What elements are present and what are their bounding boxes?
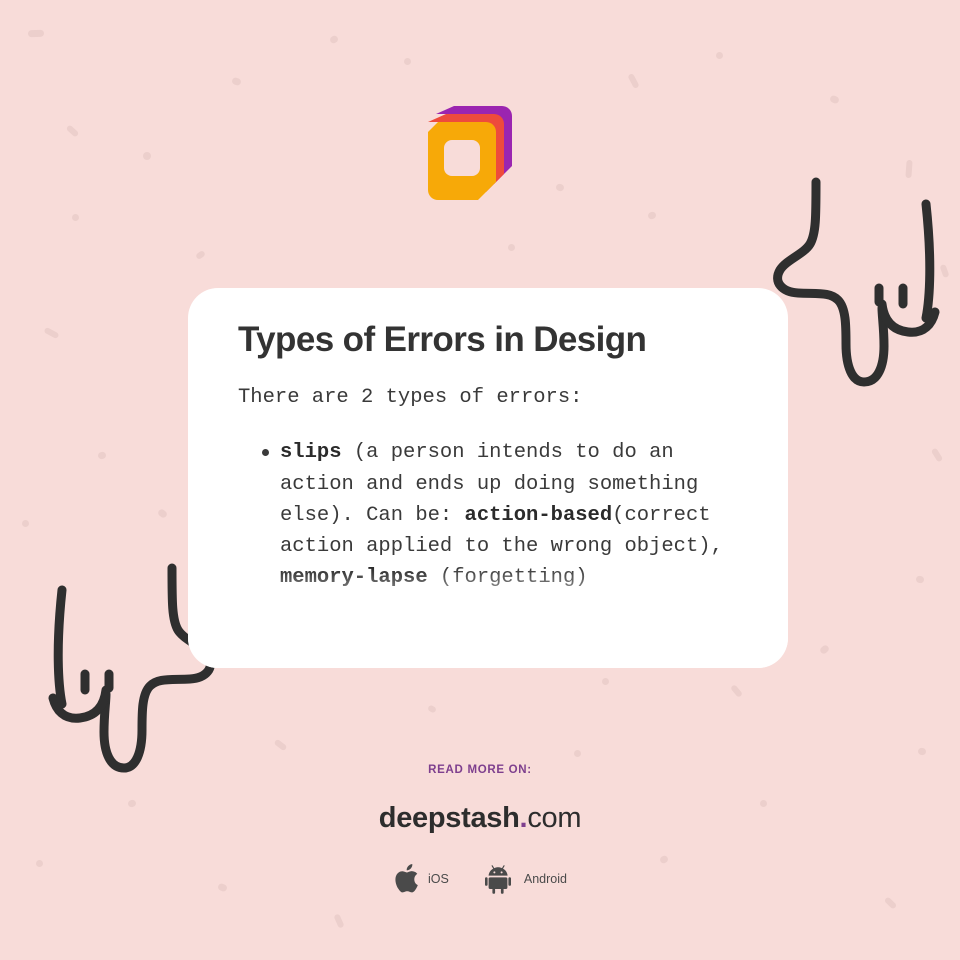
confetti-mark: [72, 214, 79, 221]
pointing-hand-top-right-icon: [760, 176, 960, 392]
wordmark-name: deepstash: [379, 802, 520, 834]
confetti-mark: [730, 684, 743, 698]
footer: READ MORE ON: deepstash.com iOS: [0, 764, 960, 894]
term-action-based: action-based: [465, 504, 613, 527]
android-icon: [485, 863, 515, 894]
confetti-mark: [931, 447, 944, 462]
confetti-mark: [602, 678, 609, 685]
confetti-mark: [22, 520, 29, 527]
confetti-mark: [231, 77, 242, 87]
confetti-mark: [819, 644, 830, 655]
slips-description-3: (forgetting): [428, 566, 588, 589]
page-title: Types of Errors in Design: [238, 320, 744, 360]
confetti-mark: [829, 94, 840, 104]
term-memory-lapse: memory-lapse: [280, 566, 428, 589]
confetti-mark: [555, 183, 565, 192]
confetti-mark: [329, 34, 339, 44]
confetti-mark: [43, 327, 59, 339]
confetti-mark: [917, 747, 926, 756]
insight-card: Types of Errors in Design There are 2 ty…: [188, 288, 788, 668]
confetti-mark: [574, 750, 581, 757]
wordmark-tld: com: [527, 802, 581, 834]
confetti-mark: [627, 73, 639, 89]
deepstash-wordmark[interactable]: deepstash.com: [0, 802, 960, 835]
confetti-mark: [869, 375, 879, 385]
confetti-mark: [274, 739, 288, 752]
confetti-mark: [157, 508, 168, 519]
read-more-label: READ MORE ON:: [0, 764, 960, 776]
confetti-mark: [404, 58, 411, 65]
confetti-mark: [508, 244, 515, 251]
confetti-mark: [97, 451, 107, 460]
app-store-badges: iOS Android: [0, 863, 960, 894]
confetti-mark: [333, 913, 344, 928]
confetti-mark: [716, 52, 723, 59]
confetti-mark: [143, 152, 151, 160]
confetti-mark: [66, 124, 80, 137]
ios-badge[interactable]: iOS: [393, 863, 449, 894]
confetti-mark: [427, 704, 437, 713]
list-item: slips (a person intends to do an action …: [264, 437, 744, 593]
android-badge[interactable]: Android: [485, 863, 567, 894]
confetti-mark: [884, 896, 898, 909]
deepstash-logo: [424, 104, 520, 200]
confetti-mark: [905, 160, 912, 178]
confetti-mark: [915, 575, 924, 583]
poster-canvas: Types of Errors in Design There are 2 ty…: [0, 0, 960, 960]
android-label: Android: [524, 872, 567, 886]
confetti-mark: [647, 211, 657, 220]
apple-icon: [393, 863, 419, 894]
confetti-mark: [28, 30, 44, 38]
confetti-mark: [195, 250, 206, 260]
insight-card-content: Types of Errors in Design There are 2 ty…: [188, 288, 788, 593]
confetti-mark: [939, 264, 949, 278]
term-slips: slips: [280, 441, 342, 464]
card-lead-text: There are 2 types of errors:: [238, 382, 744, 413]
ios-label: iOS: [428, 872, 449, 886]
error-types-list: slips (a person intends to do an action …: [238, 437, 744, 593]
